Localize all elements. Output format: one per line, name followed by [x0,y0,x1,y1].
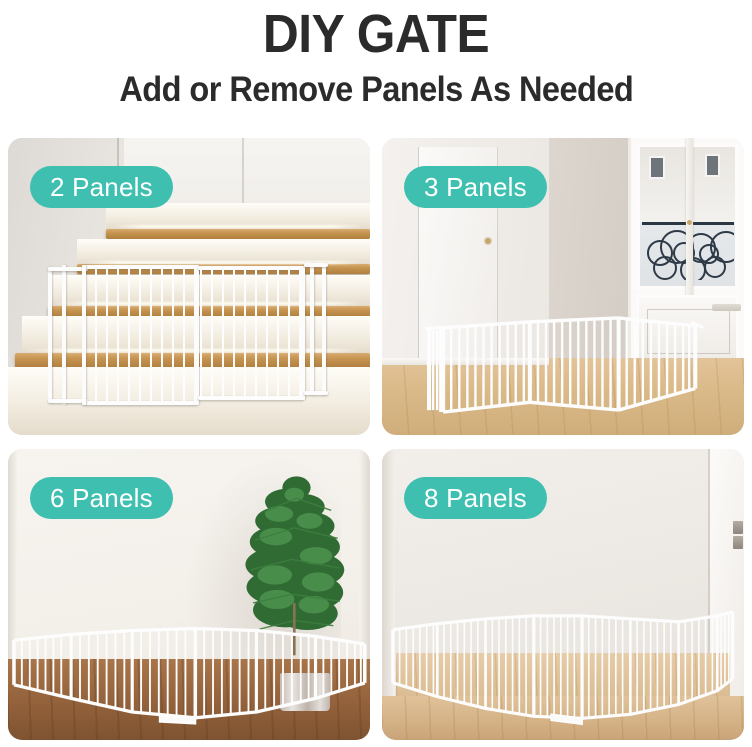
gate-stile [194,265,199,405]
door-hinge [733,536,743,549]
badge-panel-count: 8 Panels [404,477,547,519]
panel-gallery-grid: 2 Panels [8,138,744,740]
badge-panel-count: 6 Panels [30,477,173,519]
gallery-tile-8-panels[interactable]: 8 Panels [382,449,744,740]
safety-gate-2-panels [48,263,328,405]
gate-top-rail [304,263,328,267]
safety-gate-3-panels [425,316,707,414]
radiator [712,304,740,311]
page-subtitle: Add or Remove Panels As Needed [119,68,633,112]
infographic-page: DIY GATE Add or Remove Panels As Needed [0,0,752,747]
gallery-tile-2-panels[interactable]: 2 Panels [8,138,370,435]
header: DIY GATE Add or Remove Panels As Needed [0,0,752,128]
door-hinge [733,521,743,534]
gallery-tile-6-panels[interactable]: 6 Panels [8,449,370,740]
page-title: DIY GATE [263,2,489,66]
badge-panel-count: 2 Panels [30,166,173,208]
gate-bottom-rail [304,391,328,395]
railing-scroll [704,256,726,278]
stair-tread [106,229,370,239]
gate-stile [300,266,305,400]
gate-spindles [200,269,302,397]
gate-geometry [389,606,737,734]
distant-window [705,154,720,177]
gate-post [48,267,52,403]
gate-stile [82,265,86,405]
distant-window [649,156,664,179]
stair-light-strip [113,225,363,228]
gallery-tile-3-panels[interactable]: 3 Panels [382,138,744,435]
railing-scroll [653,256,677,280]
gate-geometry [425,316,707,414]
gate-post [62,265,66,405]
gate-post [310,263,314,395]
gate-post [322,263,326,395]
safety-gate-6-panels [12,615,367,731]
badge-panel-count: 3 Panels [404,166,547,208]
safety-gate-8-panels [389,606,737,734]
gate-geometry [12,615,367,731]
gate-spindles [84,268,196,402]
